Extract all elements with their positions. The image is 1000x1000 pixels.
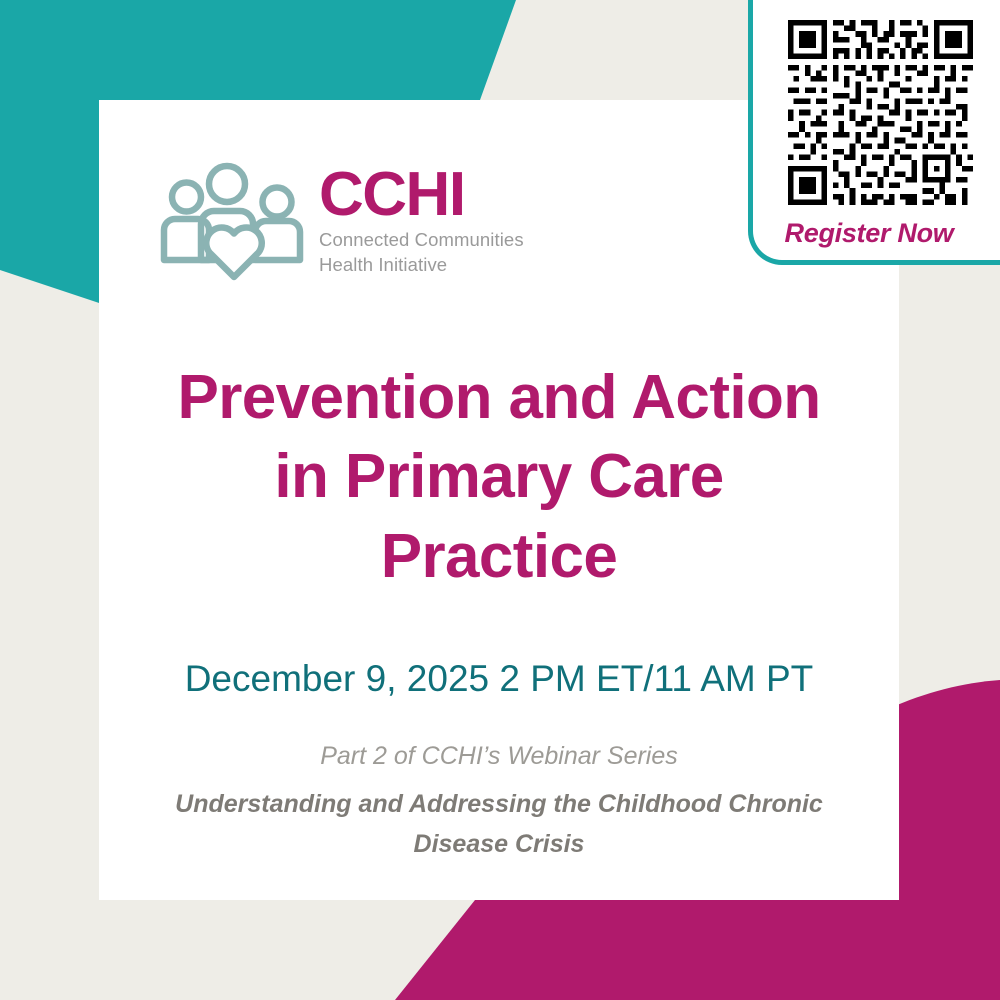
series-info: Part 2 of CCHI’s Webinar Series Understa… xyxy=(99,738,899,864)
series-part-label: Part 2 of CCHI’s Webinar Series xyxy=(99,738,899,776)
headline-line-2: in Primary Care xyxy=(99,437,899,516)
qr-code[interactable] xyxy=(788,20,973,205)
cchi-logo: CCHI Connected Communities Health Initia… xyxy=(159,162,524,282)
logo-tagline-line-1: Connected Communities xyxy=(319,227,524,253)
register-panel[interactable]: Register Now xyxy=(748,0,1000,265)
logo-title: CCHI xyxy=(319,166,524,225)
headline-line-3: Practice xyxy=(99,517,899,596)
series-name-label: Understanding and Addressing the Childho… xyxy=(99,784,899,864)
page-title: Prevention and Action in Primary Care Pr… xyxy=(99,358,899,596)
headline-line-1: Prevention and Action xyxy=(99,358,899,437)
register-now-label[interactable]: Register Now xyxy=(753,218,985,249)
people-with-heart-icon xyxy=(159,162,309,282)
logo-tagline-line-2: Health Initiative xyxy=(319,252,524,278)
logo-wordmark: CCHI Connected Communities Health Initia… xyxy=(319,166,524,278)
webinar-promo-poster: CCHI Connected Communities Health Initia… xyxy=(0,0,1000,1000)
event-datetime: December 9, 2025 2 PM ET/11 AM PT xyxy=(99,658,899,700)
